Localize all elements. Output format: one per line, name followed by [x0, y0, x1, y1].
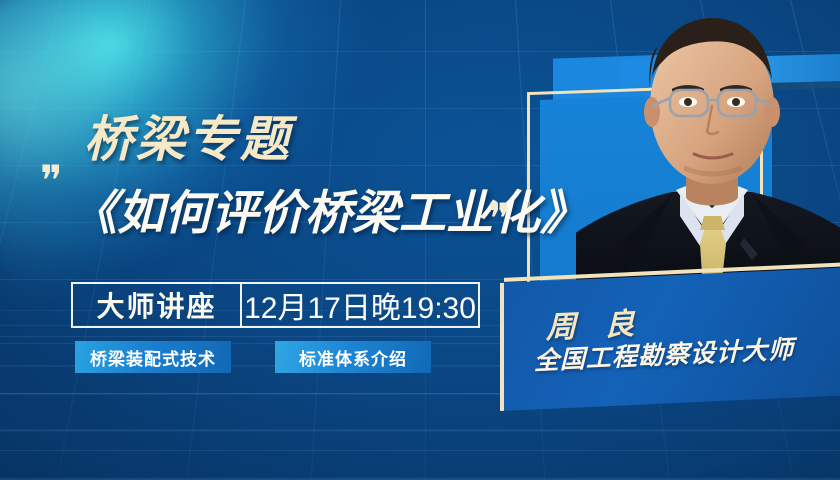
topic-tag-2: 标准体系介绍: [275, 341, 431, 373]
page-title: 桥梁专题: [84, 100, 292, 171]
lecture-info-box: 大师讲座 12月17日晚19:30: [71, 282, 480, 328]
lecture-poster: 周 良 全国工程勘察设计大师 桥梁专题 ❞ 《如何评价桥梁工业化》 ❞ 大师讲座…: [0, 0, 840, 480]
lecture-label: 大师讲座: [73, 284, 240, 326]
speaker-name-text-group: 周 良 全国工程勘察设计大师: [500, 267, 840, 411]
lecture-datetime: 12月17日晚19:30: [242, 284, 478, 326]
quote-close-icon: ❞: [488, 198, 511, 240]
topic-tag-1: 桥梁装配式技术: [75, 341, 231, 373]
quote-open-icon: ❞: [40, 160, 63, 202]
